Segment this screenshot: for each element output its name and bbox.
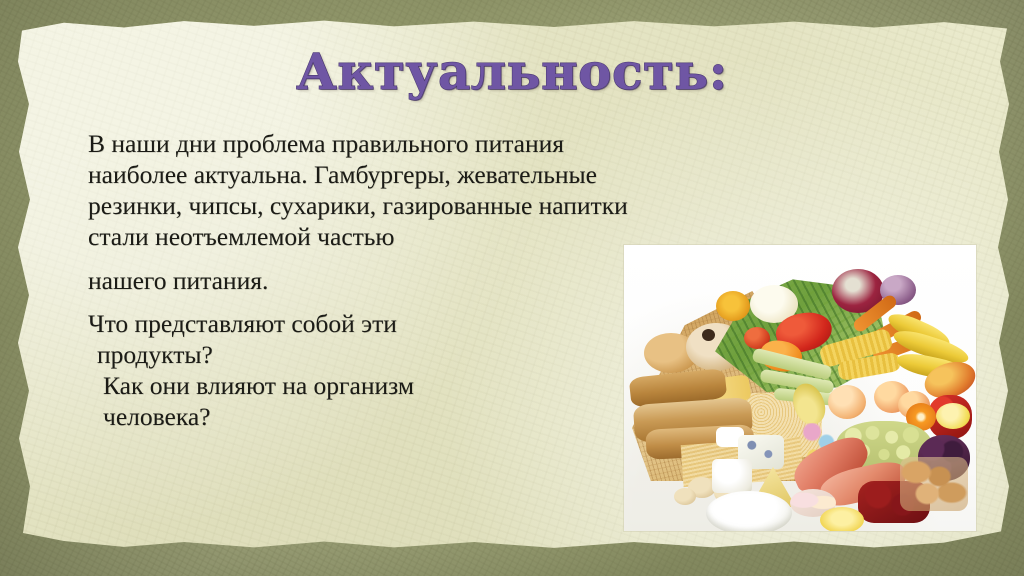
- lemon: [936, 403, 970, 429]
- squash-blossom: [716, 291, 750, 321]
- potato-3: [674, 488, 696, 505]
- page-title: Актуальность:: [0, 47, 1024, 97]
- body-line-3: резинки, чипсы, сухарики, газированные н…: [88, 190, 918, 221]
- body-line-1: В наши дни проблема правильного питания: [88, 128, 918, 159]
- food-photo: [624, 245, 976, 531]
- white-cheese-block: [712, 459, 752, 493]
- body-line-2: наиболее актуальна. Гамбургеры, жеватель…: [88, 159, 918, 190]
- slide: Актуальность: В наши дни проблема правил…: [0, 0, 1024, 576]
- yogurt-bowl: [706, 491, 792, 531]
- bread-seed-1: [702, 329, 715, 341]
- nectarine: [828, 385, 866, 419]
- lemon-half: [820, 507, 864, 531]
- nuts-pile: [900, 457, 968, 511]
